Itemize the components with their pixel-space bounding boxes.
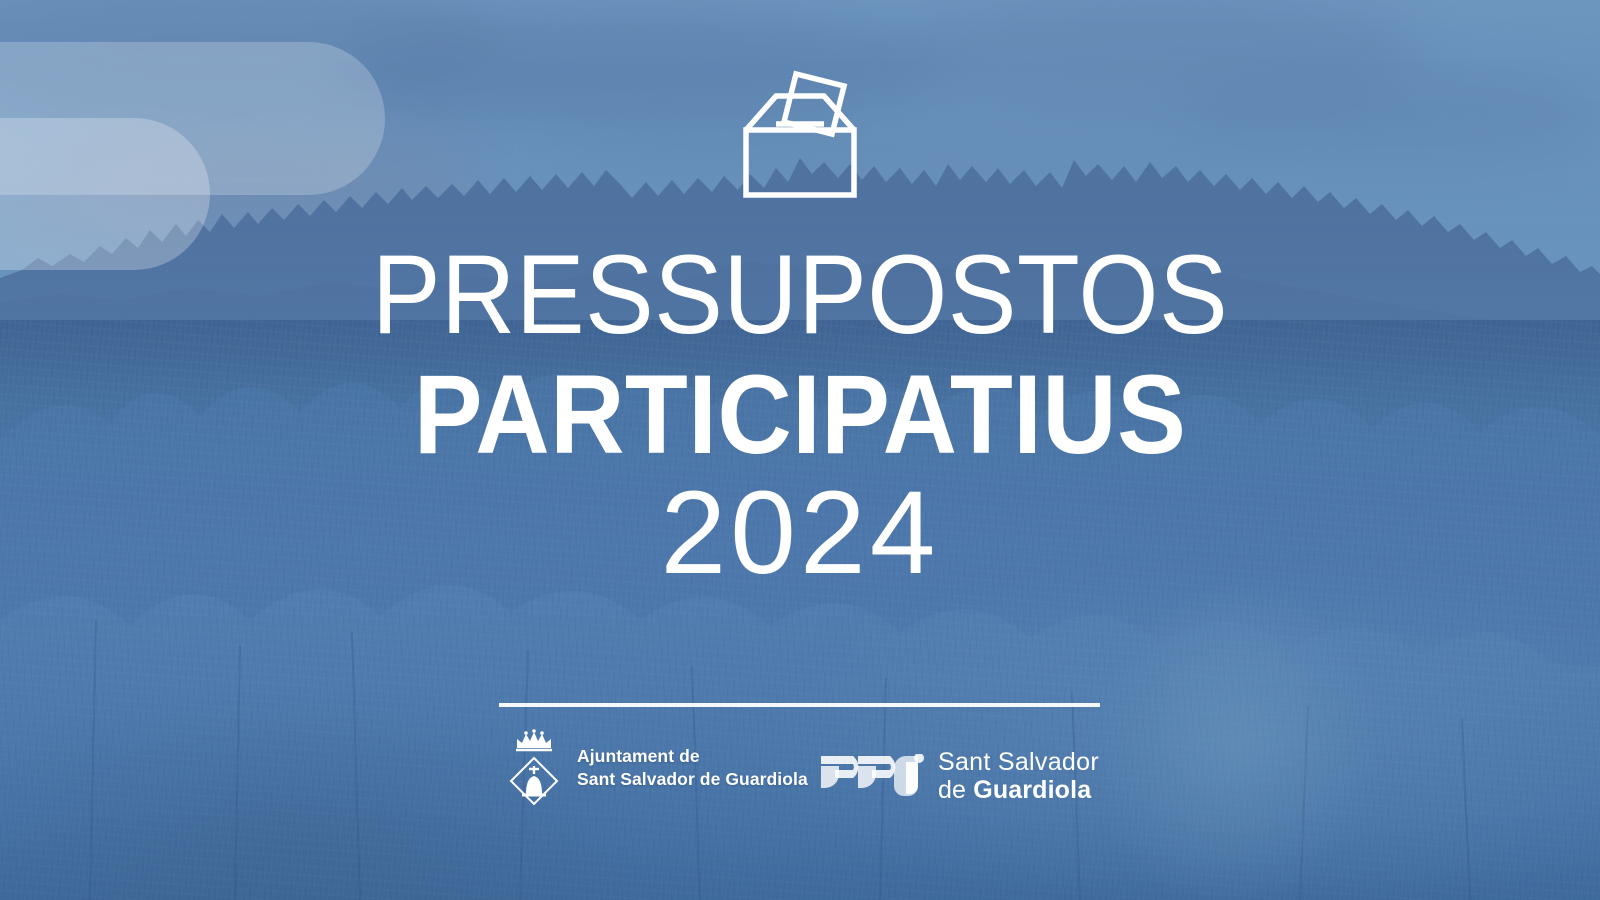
ajuntament-logo: Ajuntament de Sant Salvador de Guardiola bbox=[505, 726, 808, 810]
title-line-1: PRESSUPOSTOS bbox=[64, 240, 1536, 350]
ssg-line-2-bold: Guardiola bbox=[973, 776, 1091, 804]
logo-row: Ajuntament de Sant Salvador de Guardiola bbox=[0, 726, 1600, 816]
ajuntament-line-1: Ajuntament de bbox=[577, 745, 808, 768]
ajuntament-logo-text: Ajuntament de Sant Salvador de Guardiola bbox=[577, 745, 808, 792]
ajuntament-line-2: Sant Salvador de Guardiola bbox=[577, 768, 808, 791]
horizontal-divider bbox=[499, 703, 1100, 707]
poster-content: PRESSUPOSTOS PARTICIPATIUS 2024 bbox=[0, 0, 1600, 900]
ssg-monogram-icon bbox=[820, 754, 925, 798]
ssg-logo: Sant Salvador de Guardiola bbox=[820, 748, 1099, 804]
ssg-line-2-thin: de bbox=[938, 776, 973, 804]
ssg-line-2: de Guardiola bbox=[938, 776, 1099, 804]
ssg-logo-text: Sant Salvador de Guardiola bbox=[938, 748, 1099, 804]
ajuntament-crest-icon bbox=[505, 726, 563, 810]
poster-canvas: PRESSUPOSTOS PARTICIPATIUS 2024 bbox=[0, 0, 1600, 900]
ballot-box-icon bbox=[732, 62, 868, 202]
ssg-line-1: Sant Salvador bbox=[938, 748, 1099, 776]
title-line-3-year: 2024 bbox=[0, 474, 1600, 592]
poster-title-block: PRESSUPOSTOS PARTICIPATIUS 2024 bbox=[0, 240, 1600, 592]
title-line-2: PARTICIPATIUS bbox=[64, 358, 1536, 472]
